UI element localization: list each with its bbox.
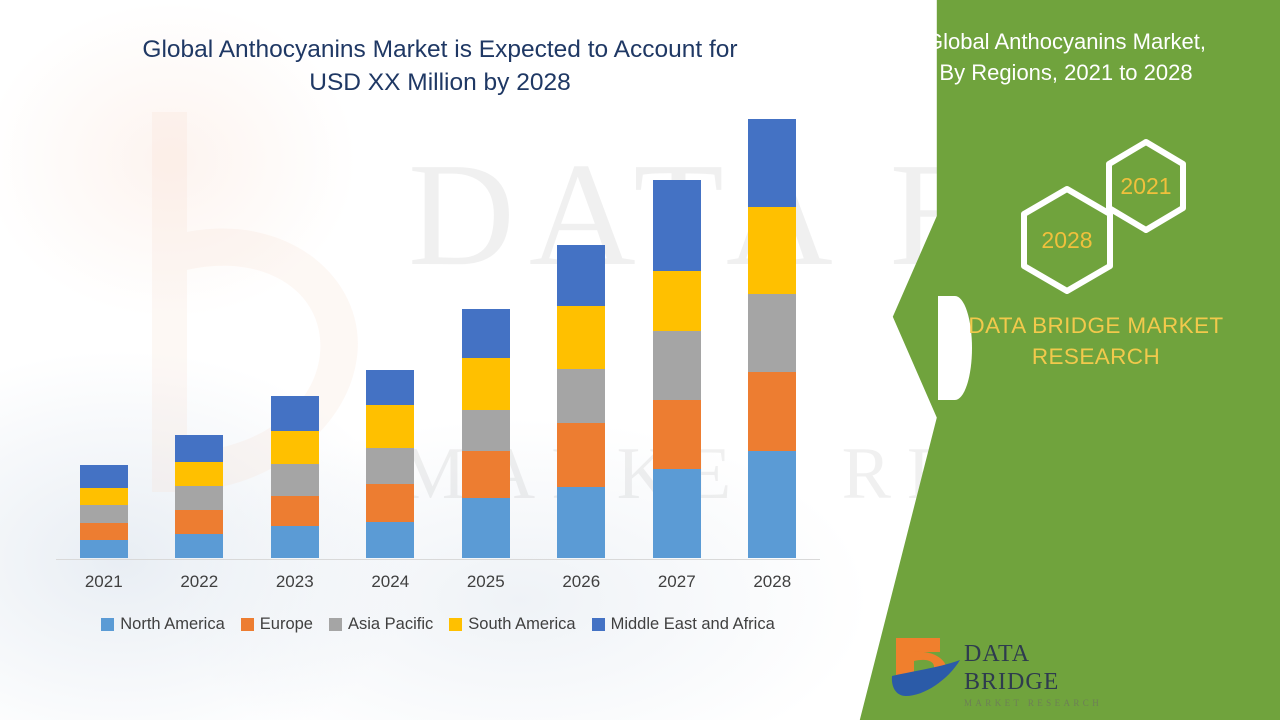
legend-item[interactable]: Europe — [241, 615, 313, 634]
bar-segment[interactable] — [80, 465, 128, 488]
x-axis-tick-2027: 2027 — [629, 572, 725, 592]
panel-brand-line-2: RESEARCH — [936, 341, 1256, 372]
bar-segment[interactable] — [653, 271, 701, 331]
stacked-bar[interactable] — [462, 309, 510, 558]
bar-segment[interactable] — [653, 331, 701, 400]
bar-segment[interactable] — [748, 372, 796, 451]
bar-segment[interactable] — [271, 526, 319, 558]
bar-segment[interactable] — [271, 496, 319, 527]
bar-segment[interactable] — [557, 369, 605, 423]
bar-segment[interactable] — [462, 358, 510, 410]
hexagon-2028: 2028 — [1017, 184, 1117, 296]
stacked-bar[interactable] — [175, 435, 223, 558]
chart-legend: North AmericaEuropeAsia PacificSouth Ame… — [56, 615, 820, 634]
bar-column-2021[interactable] — [56, 120, 152, 558]
hexagon-2028-label: 2028 — [1041, 227, 1092, 254]
x-axis-tick-2026: 2026 — [534, 572, 630, 592]
legend-label: Asia Pacific — [348, 615, 433, 634]
bar-segment[interactable] — [366, 370, 414, 405]
stacked-bar[interactable] — [366, 370, 414, 558]
bar-segment[interactable] — [271, 464, 319, 496]
legend-item[interactable]: Asia Pacific — [329, 615, 433, 634]
x-axis-tick-2028: 2028 — [725, 572, 821, 592]
stacked-bar[interactable] — [271, 396, 319, 558]
chart-plot-area — [56, 120, 820, 560]
bar-column-2022[interactable] — [152, 120, 248, 558]
logo-main-text: DATA BRIDGE — [964, 640, 1114, 696]
bar-segment[interactable] — [80, 540, 128, 558]
bar-group — [56, 120, 820, 558]
panel-title-line-1: Global Anthocyanins Market, — [866, 26, 1266, 57]
bar-segment[interactable] — [557, 245, 605, 306]
legend-item[interactable]: Middle East and Africa — [592, 615, 775, 634]
bar-segment[interactable] — [366, 484, 414, 522]
bar-segment[interactable] — [175, 534, 223, 558]
legend-swatch-icon — [241, 618, 254, 631]
x-axis-tick-2024: 2024 — [343, 572, 439, 592]
bar-segment[interactable] — [366, 448, 414, 484]
x-axis-tick-2025: 2025 — [438, 572, 534, 592]
stacked-bar[interactable] — [653, 180, 701, 558]
bar-segment[interactable] — [80, 523, 128, 541]
panel-title: Global Anthocyanins Market, By Regions, … — [866, 26, 1266, 88]
bar-segment[interactable] — [557, 306, 605, 370]
legend-item[interactable]: North America — [101, 615, 225, 634]
bar-segment[interactable] — [462, 309, 510, 358]
panel-title-line-2: By Regions, 2021 to 2028 — [866, 57, 1266, 88]
x-axis-labels: 20212022202320242025202620272028 — [56, 572, 820, 592]
data-bridge-logo: DATA BRIDGE MARKET RESEARCH — [888, 632, 1110, 704]
infographic-page: DATA BRIDGE MARKET RESEARCH Global Antho… — [0, 0, 1280, 720]
bar-segment[interactable] — [271, 396, 319, 431]
bar-column-2024[interactable] — [343, 120, 439, 558]
bar-segment[interactable] — [366, 522, 414, 558]
bar-segment[interactable] — [748, 451, 796, 558]
logo-sub-text: MARKET RESEARCH — [964, 696, 1114, 710]
bar-segment[interactable] — [653, 400, 701, 468]
legend-label: South America — [468, 615, 575, 634]
logo-mark-icon — [888, 632, 966, 704]
logo-wordmark: DATA BRIDGE MARKET RESEARCH — [964, 640, 1114, 710]
bar-segment[interactable] — [175, 510, 223, 534]
x-axis-tick-2021: 2021 — [56, 572, 152, 592]
chart-title: Global Anthocyanins Market is Expected t… — [70, 33, 810, 99]
hexagon-2021: 2021 — [1103, 138, 1189, 234]
bar-segment[interactable] — [557, 487, 605, 558]
bar-segment[interactable] — [748, 294, 796, 372]
chart-title-line-2: USD XX Million by 2028 — [70, 66, 810, 99]
chart-title-line-1: Global Anthocyanins Market is Expected t… — [70, 33, 810, 66]
bar-segment[interactable] — [748, 119, 796, 207]
stacked-bar[interactable] — [80, 465, 128, 558]
bar-column-2028[interactable] — [725, 120, 821, 558]
panel-brand-line-1: DATA BRIDGE MARKET — [936, 310, 1256, 341]
stacked-bar[interactable] — [748, 119, 796, 558]
bar-column-2023[interactable] — [247, 120, 343, 558]
bar-segment[interactable] — [175, 486, 223, 510]
x-axis-tick-2023: 2023 — [247, 572, 343, 592]
bar-segment[interactable] — [653, 180, 701, 272]
bar-segment[interactable] — [175, 462, 223, 486]
bar-segment[interactable] — [462, 498, 510, 558]
bar-segment[interactable] — [653, 469, 701, 558]
bar-segment[interactable] — [80, 505, 128, 523]
bar-column-2027[interactable] — [629, 120, 725, 558]
hexagon-group: 2028 2021 — [985, 138, 1225, 288]
bar-segment[interactable] — [462, 451, 510, 498]
legend-label: Europe — [260, 615, 313, 634]
bar-segment[interactable] — [462, 410, 510, 451]
stacked-bar[interactable] — [557, 245, 605, 558]
legend-swatch-icon — [449, 618, 462, 631]
x-axis-tick-2022: 2022 — [152, 572, 248, 592]
legend-swatch-icon — [329, 618, 342, 631]
legend-swatch-icon — [592, 618, 605, 631]
bar-segment[interactable] — [80, 488, 128, 506]
panel-brand-text: DATA BRIDGE MARKET RESEARCH — [936, 310, 1256, 372]
bar-column-2025[interactable] — [438, 120, 534, 558]
bar-segment[interactable] — [175, 435, 223, 462]
bar-segment[interactable] — [271, 431, 319, 464]
legend-swatch-icon — [101, 618, 114, 631]
bar-segment[interactable] — [366, 405, 414, 447]
bar-column-2026[interactable] — [534, 120, 630, 558]
x-axis-line — [56, 559, 820, 560]
legend-label: Middle East and Africa — [611, 615, 775, 634]
bar-segment[interactable] — [557, 423, 605, 487]
hexagon-2021-label: 2021 — [1120, 173, 1171, 200]
legend-label: North America — [120, 615, 225, 634]
legend-item[interactable]: South America — [449, 615, 575, 634]
bar-segment[interactable] — [748, 207, 796, 294]
